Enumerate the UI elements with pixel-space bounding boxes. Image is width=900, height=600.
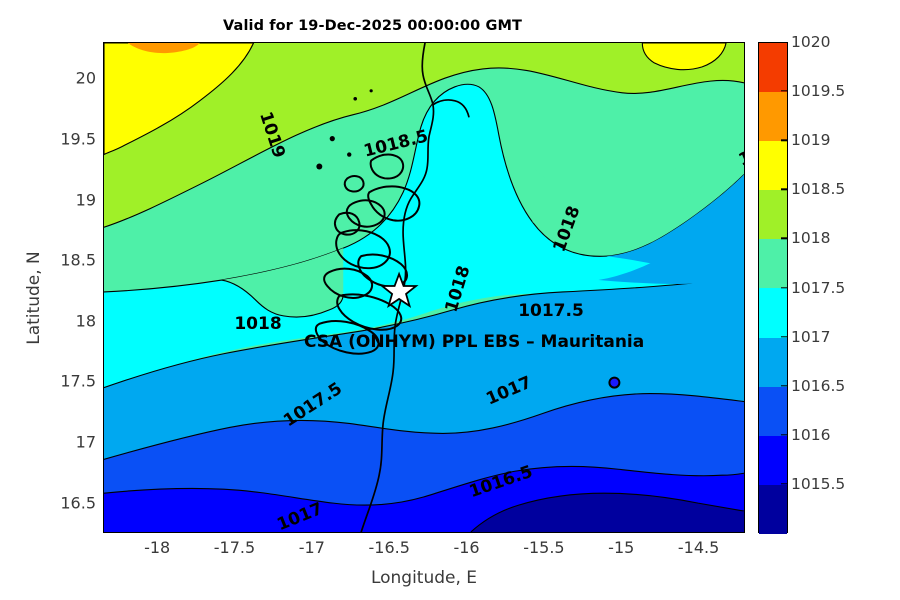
contour-label: 1018: [234, 314, 281, 334]
x-tick-label: -15.5: [523, 538, 564, 557]
colorbar-band: [759, 141, 787, 190]
colorbar-tick-label: 1016: [791, 426, 830, 444]
colorbar-tick-mark: [781, 238, 788, 239]
colorbar-tick-mark: [781, 483, 788, 484]
site-annotation-label: CSA (ONHYM) PPL EBS – Mauritania: [304, 332, 644, 352]
colorbar-tick-label: 1019.5: [791, 82, 845, 100]
colorbar-band: [759, 485, 787, 534]
colorbar-band: [759, 190, 787, 239]
colorbar-tick-label: 1017: [791, 328, 830, 346]
city-dot-marker: [609, 378, 619, 388]
page-title: Valid for 19-Dec-2025 00:00:00 GMT: [0, 18, 745, 34]
colorbar-band: [759, 92, 787, 141]
y-tick-label: 16.5: [96, 493, 132, 512]
colorbar-tick-label: 1017.5: [791, 279, 845, 297]
x-tick-label: -16.5: [368, 538, 409, 557]
y-tick-label: 18.5: [96, 251, 132, 270]
colorbar-tick-mark: [781, 336, 788, 337]
x-tick-label: -16: [453, 538, 479, 557]
x-tick-label: -17.5: [214, 538, 255, 557]
colorbar-band: [759, 387, 787, 436]
y-tick-label: 19: [96, 190, 116, 209]
colorbar-tick-label: 1020: [791, 33, 830, 51]
colorbar-band: [759, 239, 787, 288]
colorbar-tick-mark: [781, 287, 788, 288]
colorbar-tick-label: 1018: [791, 229, 830, 247]
colorbar-tick-label: 1018.5: [791, 180, 845, 198]
colorbar-tick-mark: [781, 139, 788, 140]
colorbar-tick-mark: [781, 189, 788, 190]
y-tick-label: 19.5: [96, 129, 132, 148]
colorbar-tick-mark: [781, 90, 788, 91]
x-tick-label: -18: [144, 538, 170, 557]
contour-map-plot: 10191018.51018.510181017.510181018101810…: [103, 42, 745, 533]
x-tick-label: -17: [299, 538, 325, 557]
y-tick-label: 18: [96, 311, 116, 330]
colorbar-band: [759, 436, 787, 485]
x-tick-label: -15: [608, 538, 634, 557]
colorbar-tick-label: 1015.5: [791, 475, 845, 493]
contour-field: [104, 43, 744, 532]
y-tick-label: 17.5: [96, 372, 132, 391]
contour-label: 1017.5: [518, 301, 584, 321]
colorbar-band: [759, 288, 787, 337]
colorbar-band: [759, 43, 787, 92]
y-axis-title: Latitude, N: [24, 198, 44, 398]
colorbar-tick-label: 1016.5: [791, 377, 845, 395]
y-tick-label: 20: [96, 69, 116, 88]
colorbar-tick-mark: [781, 385, 788, 386]
colorbar-band: [759, 338, 787, 387]
colorbar-tick-label: 1019: [791, 131, 830, 149]
x-axis-title: Longitude, E: [103, 568, 745, 588]
y-tick-label: 17: [96, 433, 116, 452]
colorbar-tick-mark: [781, 434, 788, 435]
x-tick-label: -14.5: [678, 538, 719, 557]
